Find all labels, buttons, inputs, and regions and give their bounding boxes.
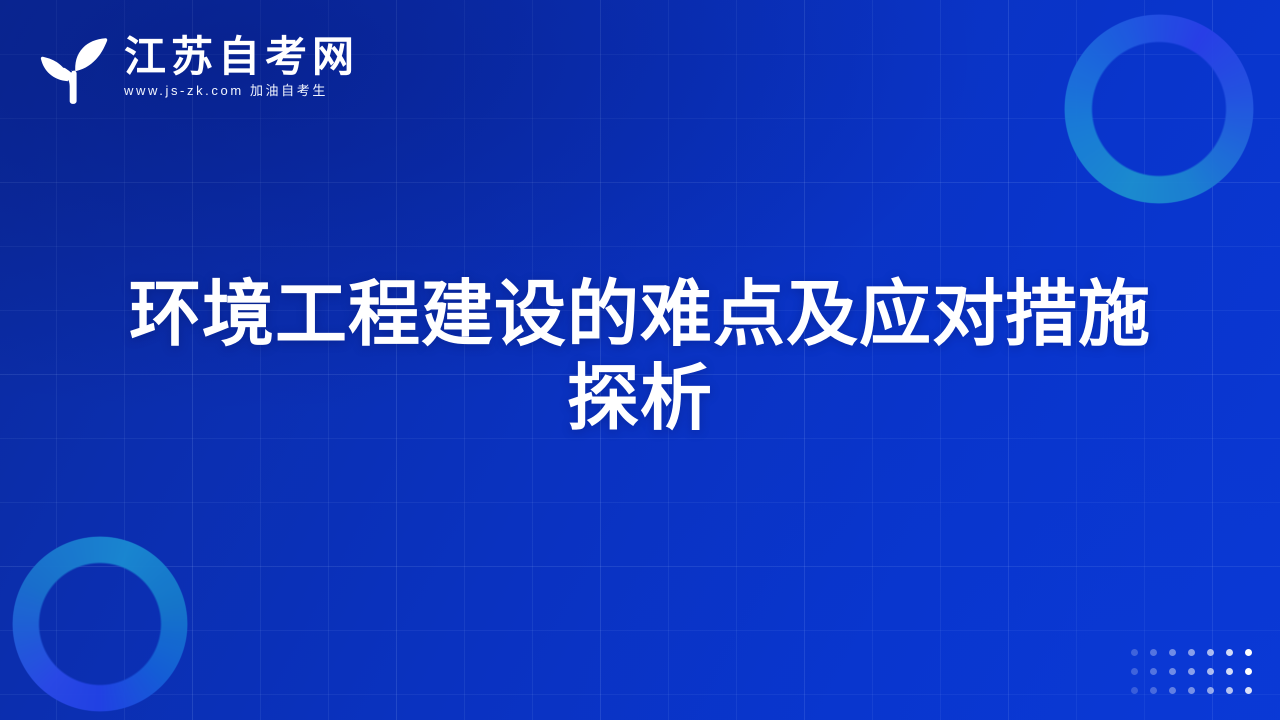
dot [1207,687,1214,694]
dot [1169,649,1176,656]
brand-name: 江苏自考网 [124,36,359,78]
logo-text-group: 江苏自考网 www.js-zk.com 加油自考生 [124,36,359,97]
dot [1188,687,1195,694]
dot [1188,649,1195,656]
dot [1245,668,1252,675]
dot [1245,687,1252,694]
dot [1150,649,1157,656]
dot [1188,668,1195,675]
title-block: 环境工程建设的难点及应对措施探析 [0,272,1280,439]
site-logo[interactable]: 江苏自考网 www.js-zk.com 加油自考生 [36,26,359,106]
dot [1131,649,1138,656]
brand-tagline: www.js-zk.com 加油自考生 [124,84,359,97]
dot [1150,668,1157,675]
decorative-ring-top-right [1064,14,1254,204]
page-title: 环境工程建设的难点及应对措施探析 [120,272,1160,439]
dot [1150,687,1157,694]
decorative-dot-matrix [1125,643,1258,700]
sprout-icon [36,26,108,106]
ring-gradient-stroke [12,536,188,712]
dot [1131,687,1138,694]
dot [1226,687,1233,694]
dot [1226,649,1233,656]
dot [1207,649,1214,656]
dot [1226,668,1233,675]
dot [1207,668,1214,675]
dot [1245,649,1252,656]
dot [1169,668,1176,675]
poster-canvas: 江苏自考网 www.js-zk.com 加油自考生 环境工程建设的难点及应对措施… [0,0,1280,720]
dot [1169,687,1176,694]
dot [1131,668,1138,675]
decorative-ring-bottom-left [12,536,188,712]
ring-gradient-stroke [1064,14,1254,204]
